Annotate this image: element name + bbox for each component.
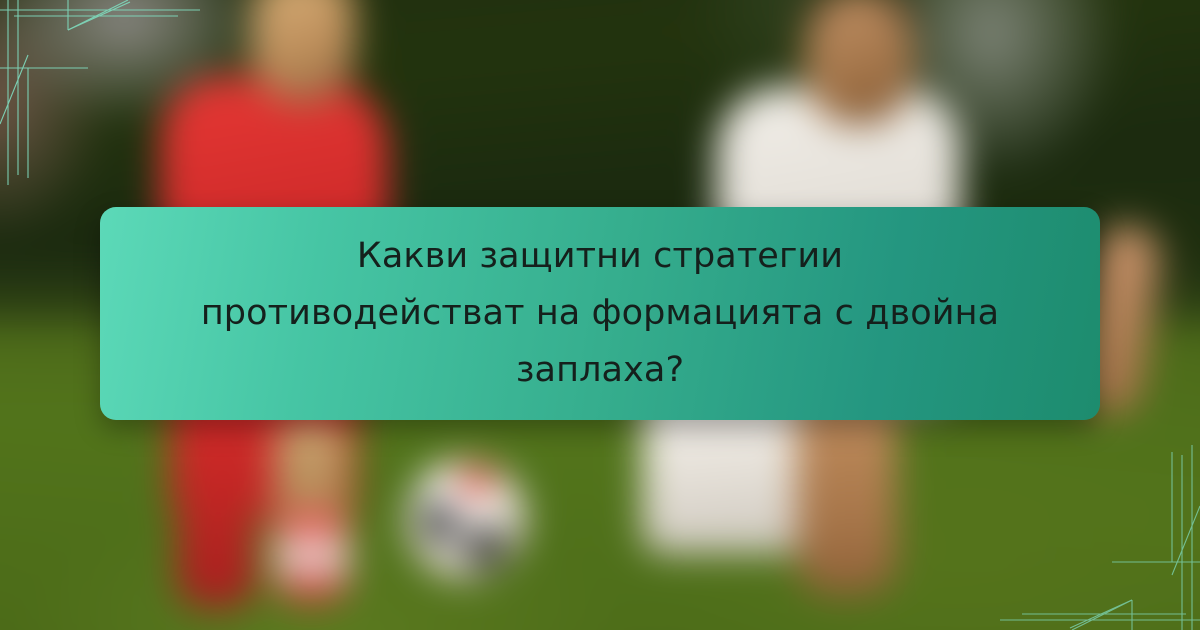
poster-canvas: Какви защитни стратегии противодействат … <box>0 0 1200 630</box>
player-red-leg-left <box>178 469 254 607</box>
ball-panel <box>456 464 496 497</box>
ball-panel <box>462 522 509 572</box>
soccer-ball-icon <box>407 460 526 579</box>
player-white-head <box>804 0 915 124</box>
player-red-sock <box>274 511 350 596</box>
question-text: Какви защитни стратегии противодействат … <box>200 228 1000 398</box>
player-red-head <box>250 0 356 103</box>
question-card: Какви защитни стратегии противодействат … <box>100 207 1100 420</box>
ball-panel <box>418 497 462 549</box>
